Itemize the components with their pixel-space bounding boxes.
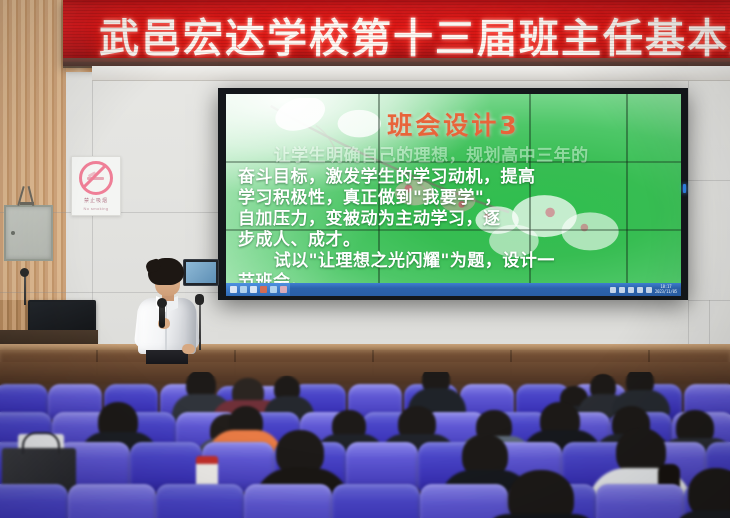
- slide-line: 奋斗目标，激发学生的学习动机，提高: [238, 167, 671, 187]
- wall-seam: [688, 80, 689, 350]
- browser-icon[interactable]: [260, 286, 267, 293]
- battery-icon[interactable]: [637, 287, 643, 293]
- auditorium-scene: 武邑宏达学校第十三届班主任基本素 禁止吸烟 No smoking: [0, 0, 730, 518]
- slide-line: 步成人、成才。: [238, 230, 671, 250]
- seat[interactable]: [0, 484, 68, 518]
- network-icon[interactable]: [610, 287, 616, 293]
- taskbar-start-group[interactable]: [226, 283, 290, 296]
- task-view-icon[interactable]: [250, 286, 257, 293]
- desk-mic-stand: [24, 275, 26, 305]
- no-smoking-sign: 禁止吸烟 No smoking: [71, 156, 121, 216]
- wood-slat-wall-left: [0, 0, 66, 330]
- slide-body-text: 让学生明确自己的理想，规划高中三年的奋斗目标，激发学生的学习动机，提高学习积极性…: [238, 146, 671, 293]
- presenter-resting-hand: [182, 344, 195, 354]
- no-smoking-label-en: No smoking: [83, 206, 108, 211]
- bag-handle: [22, 432, 60, 454]
- slide-line: 学习积极性，真正做到"我要学"，: [238, 188, 671, 208]
- slide-line: 试以"让理想之光闪耀"为题，设计一: [238, 251, 671, 271]
- seat[interactable]: [156, 484, 244, 518]
- antenna-icon: [18, 186, 42, 208]
- microphone-head-icon: [157, 298, 167, 308]
- hatch-latch-icon: [11, 231, 15, 235]
- input-method-icon[interactable]: [628, 287, 634, 293]
- display-power-led-icon: [683, 184, 686, 193]
- seat[interactable]: [244, 484, 332, 518]
- volume-icon[interactable]: [619, 287, 625, 293]
- wall-access-hatch: [4, 205, 53, 261]
- slide-line: 让学生明确自己的理想，规划高中三年的: [238, 146, 671, 166]
- banner-text: 武邑宏达学校第十三届班主任基本素: [99, 6, 730, 64]
- presenter-figure: [128, 258, 206, 358]
- no-smoking-label-zh: 禁止吸烟: [84, 197, 108, 204]
- search-icon[interactable]: [240, 286, 247, 293]
- notification-icon[interactable]: [646, 287, 652, 293]
- taskbar-clock[interactable]: 18:17 2023/11/05: [655, 285, 677, 293]
- shirt-placket: [165, 306, 167, 352]
- audience-seating: [0, 372, 730, 518]
- seat[interactable]: [332, 484, 420, 518]
- app-icon[interactable]: [280, 286, 287, 293]
- desk-microphone-icon: [20, 268, 29, 277]
- slide-canvas: 班会设计3 让学生明确自己的理想，规划高中三年的奋斗目标，激发学生的学习动机，提…: [226, 94, 681, 296]
- slide-title: 班会设计3: [226, 106, 681, 142]
- slide-line: 自加压力，变被动为主动学习，逐: [238, 209, 671, 229]
- seat[interactable]: [596, 484, 684, 518]
- taskbar-system-tray[interactable]: 18:17 2023/11/05: [610, 285, 681, 293]
- start-icon[interactable]: [230, 286, 237, 293]
- seat[interactable]: [68, 484, 156, 518]
- wall-seam: [709, 300, 710, 350]
- video-wall-display[interactable]: 班会设计3 让学生明确自己的理想，规划高中三年的奋斗目标，激发学生的学习动机，提…: [218, 88, 688, 300]
- led-banner: 武邑宏达学校第十三届班主任基本素: [63, 0, 730, 66]
- folder-icon[interactable]: [270, 286, 277, 293]
- presenter-trousers: [146, 350, 188, 364]
- wall-seam: [688, 180, 730, 181]
- no-smoking-icon: [79, 161, 113, 195]
- ceiling-trim: [92, 66, 730, 81]
- windows-taskbar[interactable]: 18:17 2023/11/05: [226, 283, 681, 296]
- seat[interactable]: [420, 484, 508, 518]
